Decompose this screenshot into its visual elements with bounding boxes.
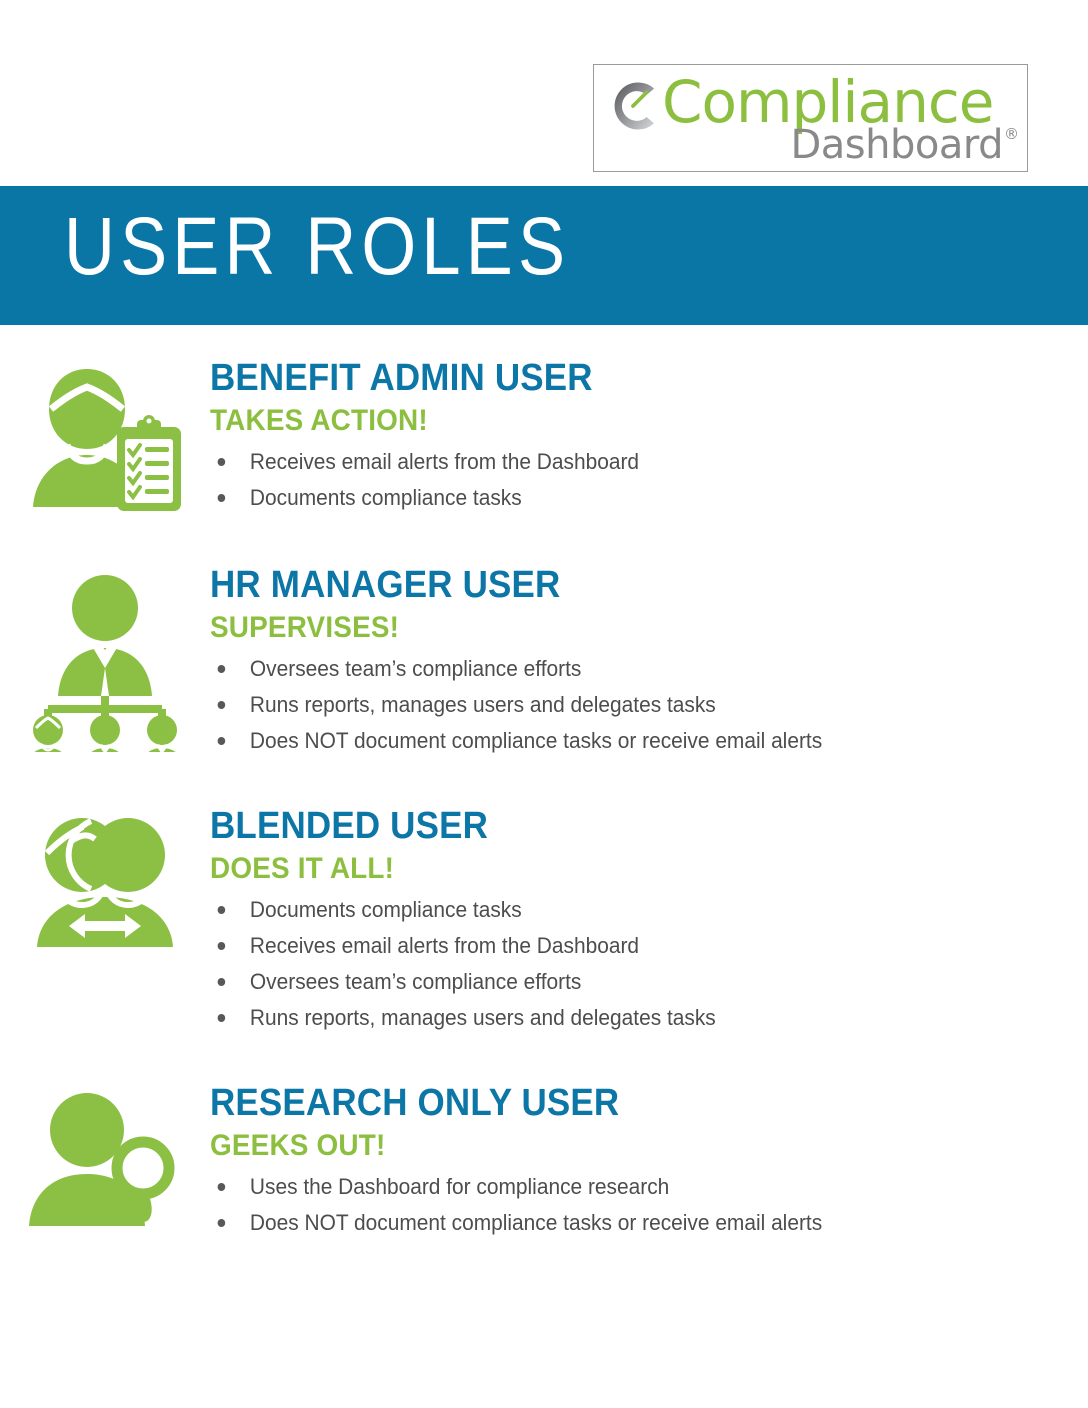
role-bullet-list: Documents compliance tasks Receives emai…: [210, 892, 742, 1036]
bullet-text: Runs reports, manages users and delegate…: [250, 1005, 716, 1030]
list-item: Documents compliance tasks: [210, 480, 639, 516]
role-body: BENEFIT ADMIN USER TAKES ACTION! Receive…: [210, 357, 662, 516]
role-icon-wrap: [0, 805, 210, 948]
list-item: Does NOT document compliance tasks or re…: [210, 1205, 822, 1241]
list-item: Receives email alerts from the Dashboard: [210, 928, 716, 964]
role-body: HR MANAGER USER SUPERVISES! Oversees tea…: [210, 564, 854, 759]
role-icon-wrap: [0, 357, 210, 520]
role-title: RESEARCH ONLY USER: [210, 1082, 803, 1125]
org-chart-manager-icon: [22, 572, 188, 752]
list-item: Oversees team’s compliance efforts: [210, 964, 716, 1000]
bullet-dot-icon: [218, 701, 226, 709]
role-body: RESEARCH ONLY USER GEEKS OUT! Uses the D…: [210, 1082, 854, 1241]
logo-dashboard-row: Dashboard ®: [790, 123, 1019, 167]
role-tagline: SUPERVISES!: [210, 611, 809, 645]
role-title: HR MANAGER USER: [210, 564, 803, 607]
role-section-hr-manager: HR MANAGER USER SUPERVISES! Oversees tea…: [0, 564, 1088, 759]
list-item: Uses the Dashboard for compliance resear…: [210, 1169, 822, 1205]
bullet-dot-icon: [218, 906, 226, 914]
bullet-dot-icon: [218, 737, 226, 745]
bullet-text: Oversees team’s compliance efforts: [250, 656, 581, 681]
list-item: Runs reports, manages users and delegate…: [210, 687, 822, 723]
page-banner: USER ROLES: [0, 186, 1088, 325]
person-with-magnifier-icon: [25, 1090, 185, 1240]
role-sections: BENEFIT ADMIN USER TAKES ACTION! Receive…: [0, 325, 1088, 1241]
bullet-text: Receives email alerts from the Dashboard: [250, 933, 639, 958]
role-icon-wrap: [0, 564, 210, 752]
bullet-text: Does NOT document compliance tasks or re…: [250, 1210, 822, 1235]
two-people-arrow-icon: [25, 813, 185, 948]
brand-logo-box: Compliance Dashboard ®: [593, 64, 1028, 172]
bullet-text: Runs reports, manages users and delegate…: [250, 692, 716, 717]
role-bullet-list: Uses the Dashboard for compliance resear…: [210, 1169, 854, 1241]
logo-dashboard-text: Dashboard: [790, 123, 1003, 167]
bullet-dot-icon: [218, 665, 226, 673]
list-item: Oversees team’s compliance efforts: [210, 651, 822, 687]
role-section-benefit-admin: BENEFIT ADMIN USER TAKES ACTION! Receive…: [0, 357, 1088, 520]
list-item: Does NOT document compliance tasks or re…: [210, 723, 822, 759]
role-tagline: DOES IT ALL!: [210, 852, 705, 886]
page-title: USER ROLES: [64, 200, 570, 294]
bullet-text: Does NOT document compliance tasks or re…: [250, 728, 822, 753]
bullet-text: Documents compliance tasks: [250, 485, 522, 510]
role-tagline: TAKES ACTION!: [210, 404, 630, 438]
role-bullet-list: Oversees team’s compliance efforts Runs …: [210, 651, 854, 759]
list-item: Receives email alerts from the Dashboard: [210, 444, 639, 480]
gauge-c-icon: [602, 75, 664, 137]
bullet-dot-icon: [218, 494, 226, 502]
bullet-text: Oversees team’s compliance efforts: [250, 969, 581, 994]
bullet-dot-icon: [218, 458, 226, 466]
person-with-clipboard-icon: [25, 365, 185, 520]
list-item: Runs reports, manages users and delegate…: [210, 1000, 716, 1036]
role-section-research-only: RESEARCH ONLY USER GEEKS OUT! Uses the D…: [0, 1082, 1088, 1241]
bullet-dot-icon: [218, 1183, 226, 1191]
bullet-dot-icon: [218, 1014, 226, 1022]
bullet-dot-icon: [218, 978, 226, 986]
bullet-dot-icon: [218, 1219, 226, 1227]
role-bullet-list: Receives email alerts from the Dashboard…: [210, 444, 662, 516]
bullet-dot-icon: [218, 942, 226, 950]
role-tagline: GEEKS OUT!: [210, 1129, 809, 1163]
role-icon-wrap: [0, 1082, 210, 1240]
list-item: Documents compliance tasks: [210, 892, 716, 928]
bullet-text: Receives email alerts from the Dashboard: [250, 449, 639, 474]
bullet-text: Documents compliance tasks: [250, 897, 522, 922]
role-title: BLENDED USER: [210, 805, 700, 848]
role-body: BLENDED USER DOES IT ALL! Documents comp…: [210, 805, 742, 1036]
registered-mark-icon: ®: [1004, 125, 1019, 143]
role-title: BENEFIT ADMIN USER: [210, 357, 625, 400]
role-section-blended: BLENDED USER DOES IT ALL! Documents comp…: [0, 805, 1088, 1036]
bullet-text: Uses the Dashboard for compliance resear…: [250, 1174, 669, 1199]
